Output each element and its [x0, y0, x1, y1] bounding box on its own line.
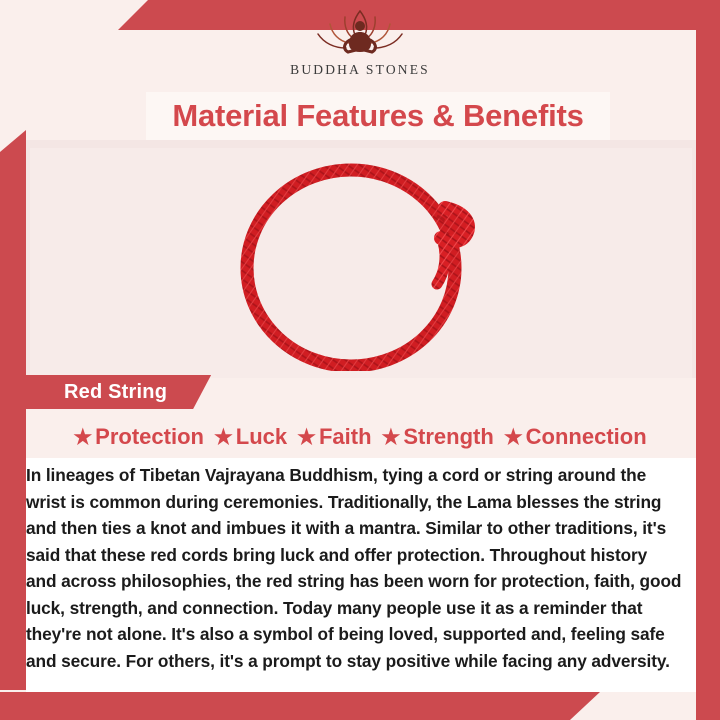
star-icon: ★: [214, 427, 233, 448]
poster: BUDDHA STONES Material Features & Benefi…: [0, 0, 720, 720]
benefit-label: Protection: [95, 424, 204, 450]
frame-right-border: [696, 30, 720, 720]
frame-bottom-border: [0, 692, 720, 720]
brand-name: BUDDHA STONES: [290, 62, 430, 78]
benefits-row: ★ Protection ★ Luck ★ Faith ★ Strength ★…: [26, 418, 694, 456]
benefit-item-connection: ★ Connection: [499, 424, 652, 450]
star-icon: ★: [73, 427, 92, 448]
lotus-meditation-icon: [308, 8, 412, 60]
benefit-label: Faith: [319, 424, 372, 450]
benefit-label: Luck: [236, 424, 287, 450]
benefit-item-luck: ★ Luck: [209, 424, 292, 450]
star-icon: ★: [297, 427, 316, 448]
product-tag-label: Red String: [64, 381, 167, 404]
benefit-item-protection: ★ Protection: [68, 424, 209, 450]
star-icon: ★: [382, 427, 401, 448]
brand-logo: BUDDHA STONES: [0, 8, 720, 90]
description-panel: In lineages of Tibetan Vajrayana Buddhis…: [26, 458, 696, 692]
benefit-item-strength: ★ Strength: [377, 424, 499, 450]
benefit-label: Connection: [526, 424, 647, 450]
page-title: Material Features & Benefits: [172, 98, 583, 134]
benefit-label: Strength: [403, 424, 493, 450]
product-image-area: [30, 148, 692, 378]
red-string-bracelet-image: [231, 156, 491, 371]
product-tag: Red String: [26, 375, 211, 409]
description-text: In lineages of Tibetan Vajrayana Buddhis…: [26, 462, 682, 674]
star-icon: ★: [504, 427, 523, 448]
title-banner: Material Features & Benefits: [146, 92, 610, 140]
benefit-item-faith: ★ Faith: [292, 424, 376, 450]
frame-left-border: [0, 130, 26, 690]
